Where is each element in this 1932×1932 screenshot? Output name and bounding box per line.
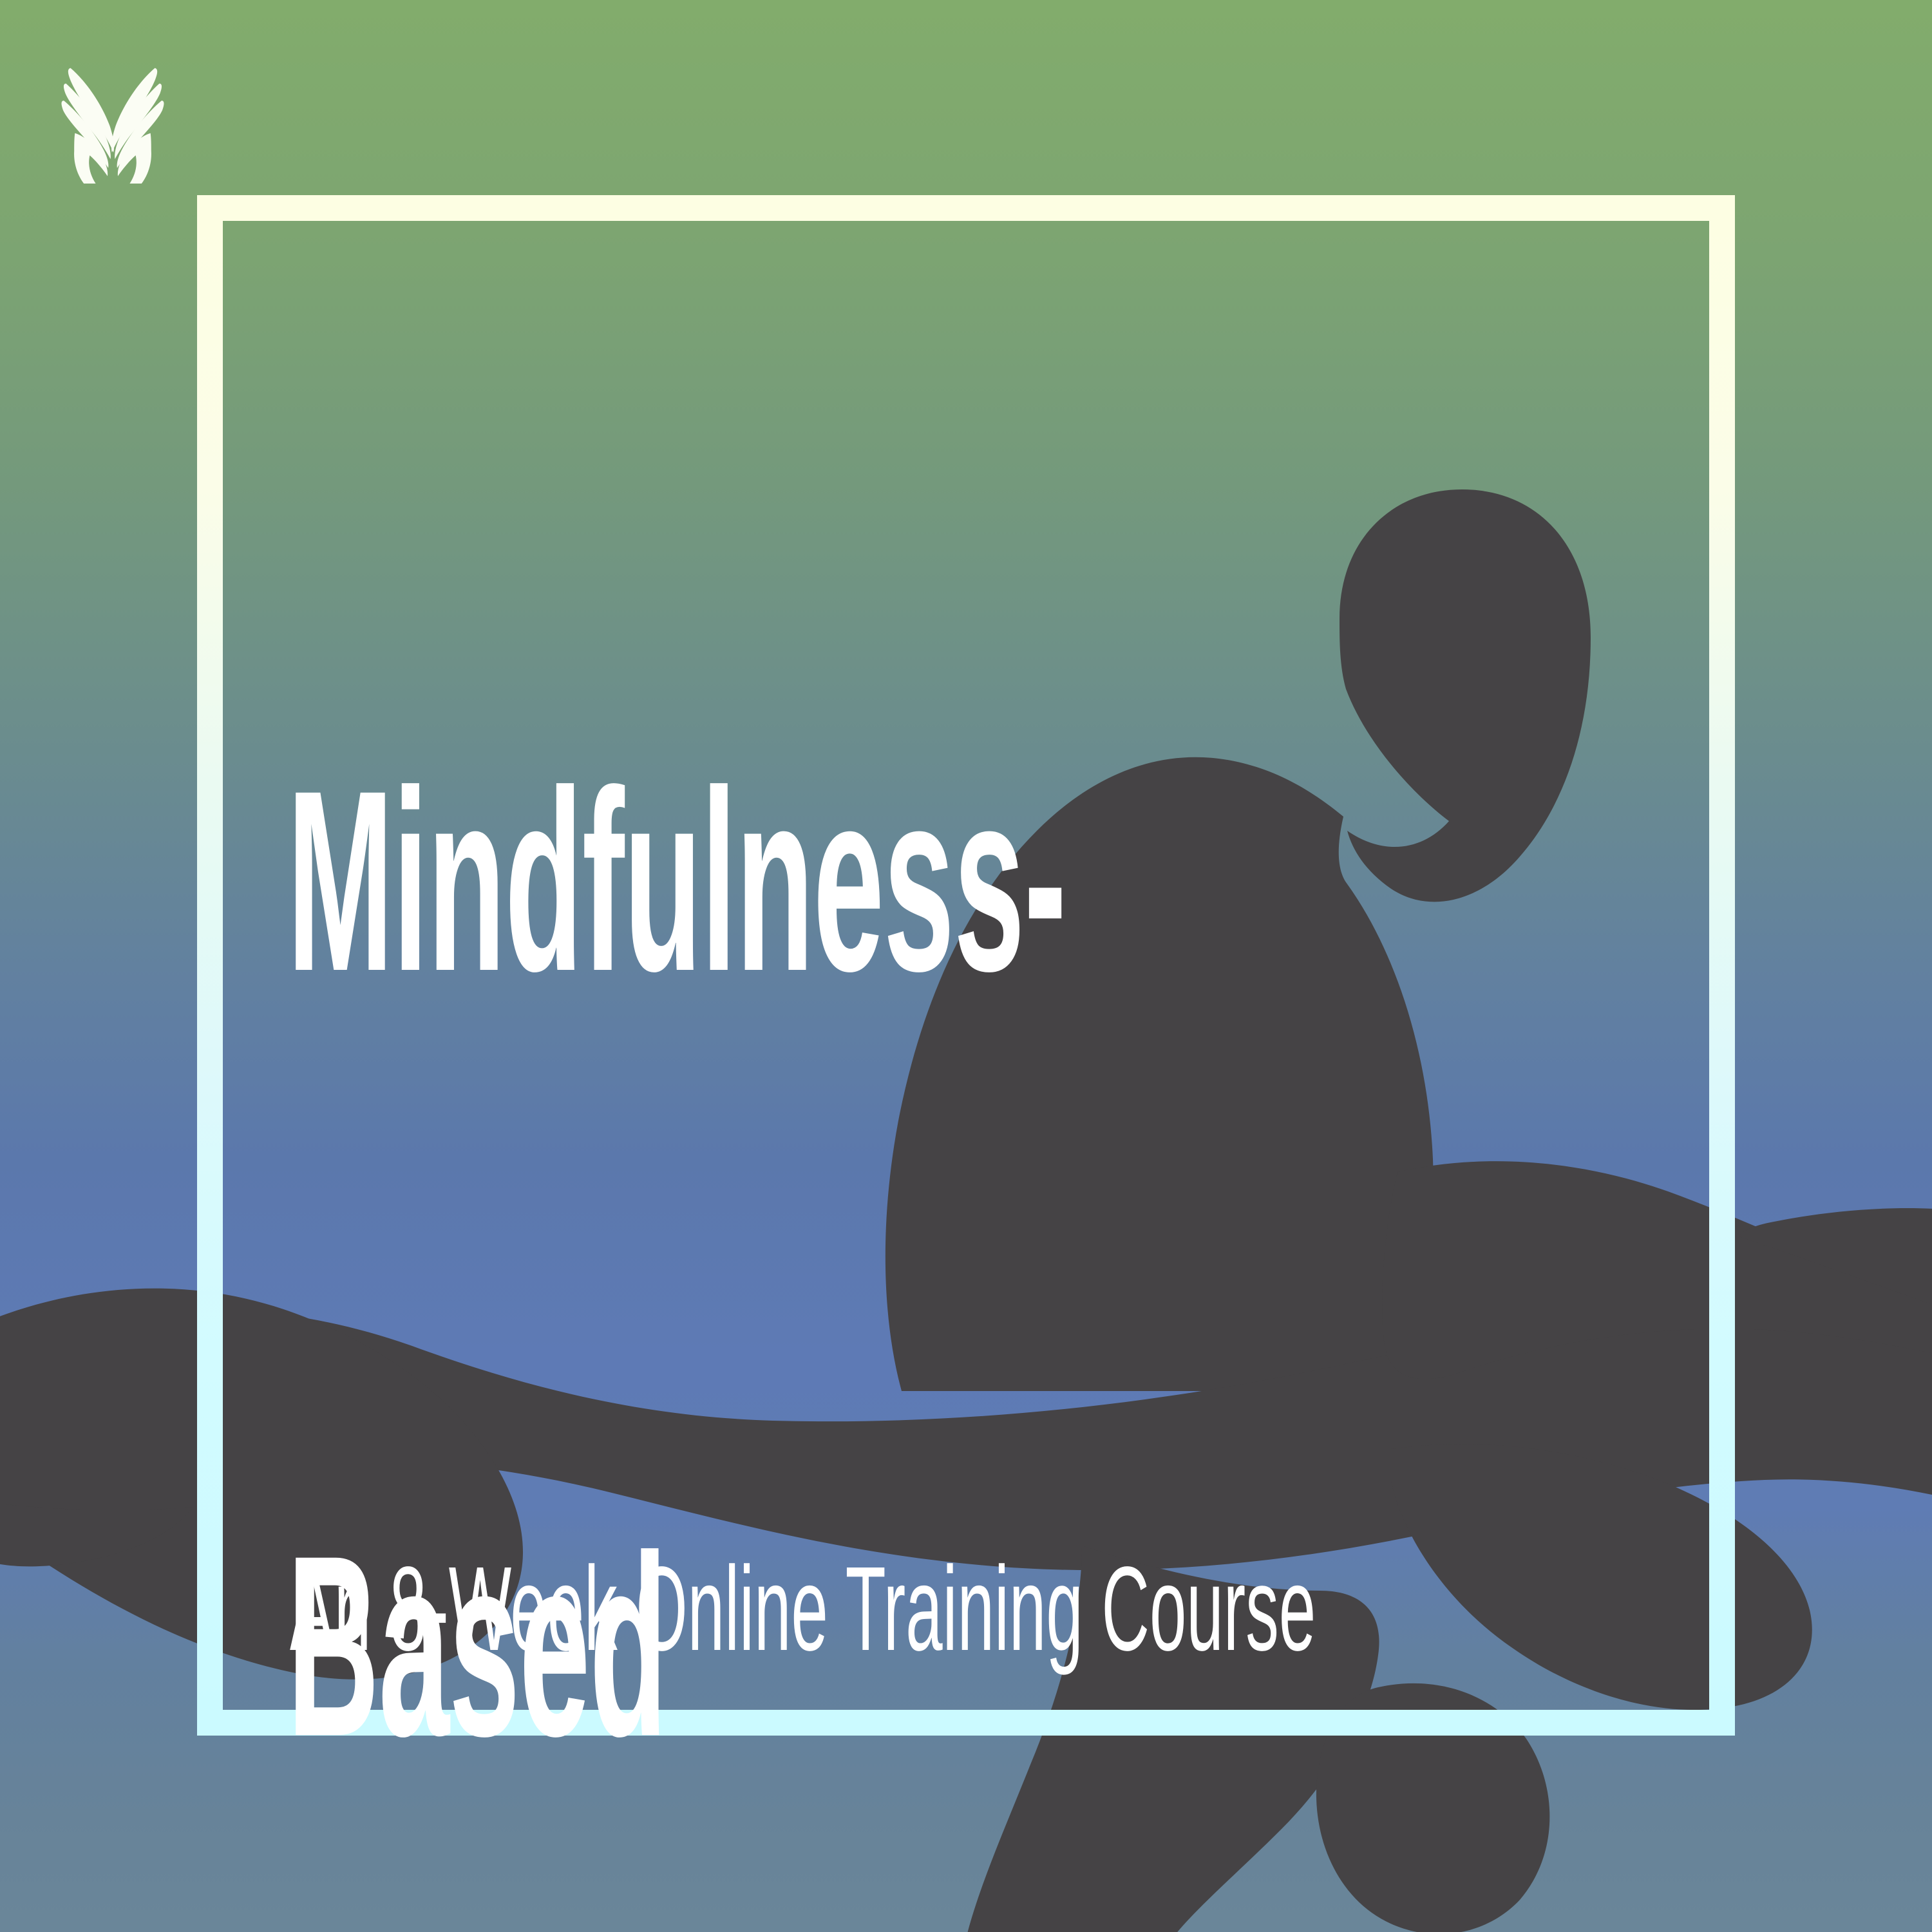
podcast-cover-art: Mindfulness- Based Stress Reduction An 8…	[0, 0, 1932, 1932]
wings-icon	[39, 35, 187, 184]
title-line-1: Mindfulness-	[287, 753, 957, 1009]
page-title: Mindfulness- Based Stress Reduction	[287, 243, 957, 1932]
subtitle: An 8-Week Online Training Course	[290, 1540, 1316, 1678]
